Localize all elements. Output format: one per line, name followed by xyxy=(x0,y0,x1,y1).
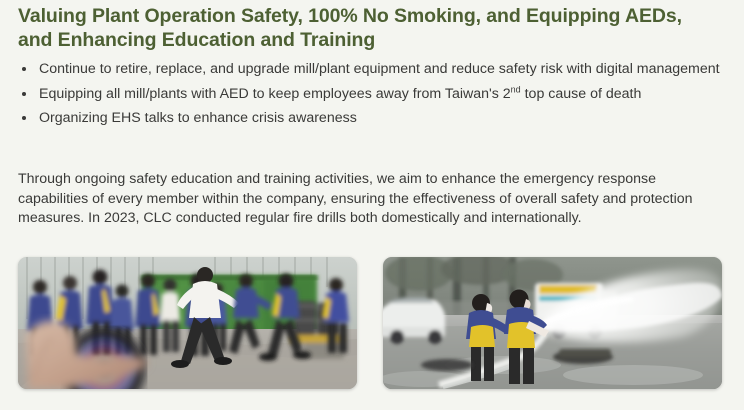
list-item: Continue to retire, replace, and upgrade… xyxy=(18,60,724,80)
list-item-text: Continue to retire, replace, and upgrade… xyxy=(39,61,720,77)
page-title-line-1: Valuing Plant Operation Safety, 100% No … xyxy=(18,5,620,27)
bullet-dot-icon xyxy=(22,67,26,71)
list-item: Equipping all mill/plants with AED to ke… xyxy=(18,85,724,105)
page-title: Valuing Plant Operation Safety, 100% No … xyxy=(18,4,718,52)
safety-bullet-list: Continue to retire, replace, and upgrade… xyxy=(18,60,724,134)
body-paragraph: Through ongoing safety education and tra… xyxy=(18,170,718,229)
fire-drill-evacuation-illustration xyxy=(18,257,357,389)
list-item: Organizing EHS talks to enhance crisis a… xyxy=(18,109,724,129)
list-item-text: Organizing EHS talks to enhance crisis a… xyxy=(39,110,357,126)
list-item-text-before: Equipping all mill/plants with AED to ke… xyxy=(39,86,511,102)
fire-drill-evacuation-photo xyxy=(18,257,357,389)
list-item-text-after: top cause of death xyxy=(521,86,642,102)
fire-hose-training-photo xyxy=(383,257,722,389)
document-page: Valuing Plant Operation Safety, 100% No … xyxy=(0,0,744,410)
fire-hose-training-illustration xyxy=(383,257,722,389)
bullet-dot-icon xyxy=(22,116,26,120)
photo-gallery xyxy=(18,257,726,389)
ordinal-superscript: nd xyxy=(511,84,521,94)
bullet-dot-icon xyxy=(22,92,26,96)
